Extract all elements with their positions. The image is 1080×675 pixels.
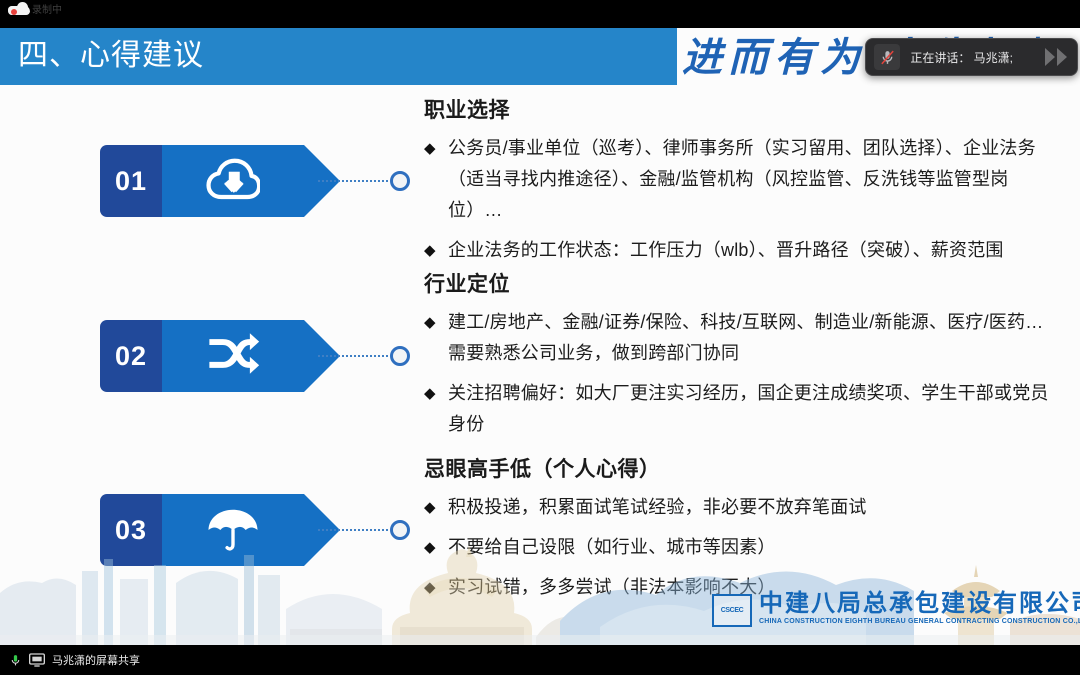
content-section-1: 职业选择 ◆ 公务员/事业单位（巡考）、律师事务所（实习留用、团队选择）、企业法…	[424, 94, 1062, 275]
screen-share-icon[interactable]	[29, 653, 45, 667]
connector-endpoint-03	[390, 520, 410, 540]
bullet-item: ◆ 积极投递，积累面试笔试经验，非必要不放弃笔面试	[424, 492, 1062, 523]
bullet-diamond-icon: ◆	[424, 532, 448, 563]
step-number-01: 01	[100, 145, 162, 217]
section-heading-2: 行业定位	[424, 268, 1062, 298]
cloud-download-icon	[206, 158, 260, 204]
bullet-diamond-icon: ◆	[424, 307, 448, 338]
recording-label: 录制中	[32, 1, 62, 16]
bullet-item: ◆ 关注招聘偏好：如大厂更注实习经历，国企更注成绩奖项、学生干部或党员身份	[424, 378, 1062, 440]
step-connector-02	[318, 355, 408, 357]
step-badge-02: 02	[100, 320, 304, 392]
shuffle-arrows-icon	[206, 333, 260, 379]
expand-chevron-icon[interactable]	[1045, 48, 1071, 66]
section-heading-3: 忌眼高手低（个人心得）	[424, 453, 1062, 483]
active-speaker-toolbar[interactable]: 正在讲话： 马兆潇;	[865, 38, 1078, 76]
presentation-slide: 四、心得建议 进而有为 人生扬帆 01	[0, 28, 1080, 645]
step-connector-01	[318, 180, 408, 182]
bullet-item: ◆ 公务员/事业单位（巡考）、律师事务所（实习留用、团队选择）、企业法务（适当寻…	[424, 133, 1062, 226]
section-heading-1: 职业选择	[424, 94, 1062, 124]
bullet-diamond-icon: ◆	[424, 492, 448, 523]
content-section-2: 行业定位 ◆ 建工/房地产、金融/证券/保险、科技/互联网、制造业/新能源、医疗…	[424, 268, 1062, 449]
step-connector-03	[318, 529, 408, 531]
taskbar-share-label: 马兆潇的屏幕共享	[52, 652, 140, 668]
step-icon-holder-02	[162, 320, 304, 392]
bullet-text: 企业法务的工作状态：工作压力（wlb）、晋升路径（突破）、薪资范围	[448, 235, 1062, 266]
bullet-text: 积极投递，积累面试笔试经验，非必要不放弃笔面试	[448, 492, 1062, 523]
screen-share-view: 四、心得建议 进而有为 人生扬帆 01	[0, 0, 1080, 675]
step-number-02: 02	[100, 320, 162, 392]
recording-indicator: 录制中	[8, 1, 62, 16]
slide-title-accent-strip	[0, 80, 677, 85]
bullet-text: 关注招聘偏好：如大厂更注实习经历，国企更注成绩奖项、学生干部或党员身份	[448, 378, 1062, 440]
company-logo: CSCEC 中建八局总承包建设有限公司 CHINA CONSTRUCTION E…	[712, 590, 1080, 627]
connector-endpoint-02	[390, 346, 410, 366]
company-name-en: CHINA CONSTRUCTION EIGHTH BUREAU GENERAL…	[759, 617, 1080, 627]
umbrella-icon	[206, 507, 260, 553]
cloud-recording-icon	[8, 2, 30, 15]
bullet-item: ◆ 建工/房地产、金融/证券/保险、科技/互联网、制造业/新能源、医疗/医药… …	[424, 307, 1062, 369]
bullet-item: ◆ 不要给自己设限（如行业、城市等因素）	[424, 532, 1062, 563]
step-number-03: 03	[100, 494, 162, 566]
bullet-diamond-icon: ◆	[424, 572, 448, 603]
active-speaker-label: 正在讲话： 马兆潇;	[910, 49, 1035, 66]
cscec-logo-icon: CSCEC	[712, 594, 752, 627]
microphone-icon[interactable]	[9, 653, 22, 668]
company-name-cn: 中建八局总承包建设有限公司	[759, 590, 1080, 617]
step-icon-holder-03	[162, 494, 304, 566]
step-badge-01: 01	[100, 145, 304, 217]
bullet-diamond-icon: ◆	[424, 235, 448, 266]
bullet-item: ◆ 企业法务的工作状态：工作压力（wlb）、晋升路径（突破）、薪资范围	[424, 235, 1062, 266]
bullet-diamond-icon: ◆	[424, 133, 448, 164]
bullet-text: 建工/房地产、金融/证券/保险、科技/互联网、制造业/新能源、医疗/医药… 需要…	[448, 307, 1062, 369]
screen-share-taskbar: 马兆潇的屏幕共享	[0, 645, 1080, 675]
content-section-3: 忌眼高手低（个人心得） ◆ 积极投递，积累面试笔试经验，非必要不放弃笔面试 ◆ …	[424, 453, 1062, 612]
company-name-block: 中建八局总承包建设有限公司 CHINA CONSTRUCTION EIGHTH …	[759, 590, 1080, 627]
page-title: 四、心得建议	[18, 36, 204, 76]
step-icon-holder-01	[162, 145, 304, 217]
bullet-diamond-icon: ◆	[424, 378, 448, 409]
mic-muted-icon[interactable]	[874, 44, 900, 70]
step-badge-03: 03	[100, 494, 304, 566]
connector-endpoint-01	[390, 171, 410, 191]
bullet-text: 公务员/事业单位（巡考）、律师事务所（实习留用、团队选择）、企业法务（适当寻找内…	[448, 133, 1062, 226]
bullet-text: 不要给自己设限（如行业、城市等因素）	[448, 532, 1062, 563]
